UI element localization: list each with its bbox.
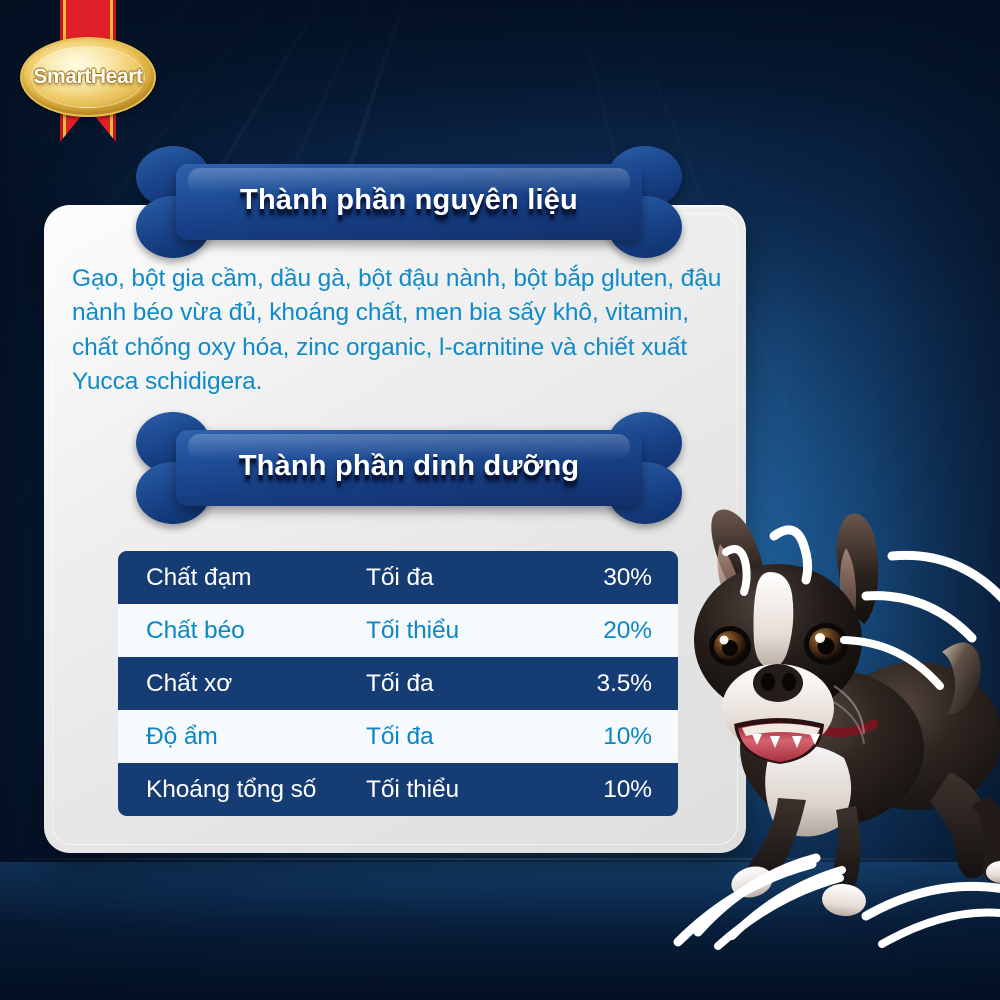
nutrient-name: Độ ẩm: [118, 723, 366, 751]
ingredients-text: Gạo, bột gia cầm, dầu gà, bột đậu nành, …: [72, 262, 732, 399]
nutrient-qualifier: Tối thiểu: [366, 776, 584, 804]
motion-lines-lower-left: [688, 836, 868, 946]
promo-canvas: SmartHeart Gạo, bột gia cầm, dầu gà, bột…: [0, 0, 1000, 1000]
table-row: Chất béo Tối thiểu 20%: [118, 604, 678, 657]
brand-name: SmartHeart: [33, 65, 142, 89]
nutrition-table: Chất đạm Tối đa 30% Chất béo Tối thiểu 2…: [118, 551, 678, 816]
nutrition-heading: Thành phần dinh dưỡng: [136, 412, 682, 524]
nutrient-qualifier: Tối thiểu: [366, 617, 584, 645]
ingredients-heading: Thành phần nguyên liệu: [136, 146, 682, 258]
brand-logo: SmartHeart: [14, 0, 162, 160]
bone-banner-nutrition: Thành phần dinh dưỡng: [136, 412, 682, 524]
nutrient-name: Chất đạm: [118, 564, 366, 592]
nutrient-qualifier: Tối đa: [366, 723, 584, 751]
bone-banner-ingredients: Thành phần nguyên liệu: [136, 146, 682, 258]
table-row: Chất xơ Tối đa 3.5%: [118, 657, 678, 710]
nutrient-name: Khoáng tổng số: [118, 776, 366, 804]
medal-icon: SmartHeart: [20, 37, 156, 117]
nutrient-qualifier: Tối đa: [366, 564, 584, 592]
nutrient-name: Chất xơ: [118, 670, 366, 698]
table-row: Độ ẩm Tối đa 10%: [118, 710, 678, 763]
table-row: Khoáng tổng số Tối thiểu 10%: [118, 763, 678, 816]
nutrient-qualifier: Tối đa: [366, 670, 584, 698]
nutrient-name: Chất béo: [118, 617, 366, 645]
table-row: Chất đạm Tối đa 30%: [118, 551, 678, 604]
